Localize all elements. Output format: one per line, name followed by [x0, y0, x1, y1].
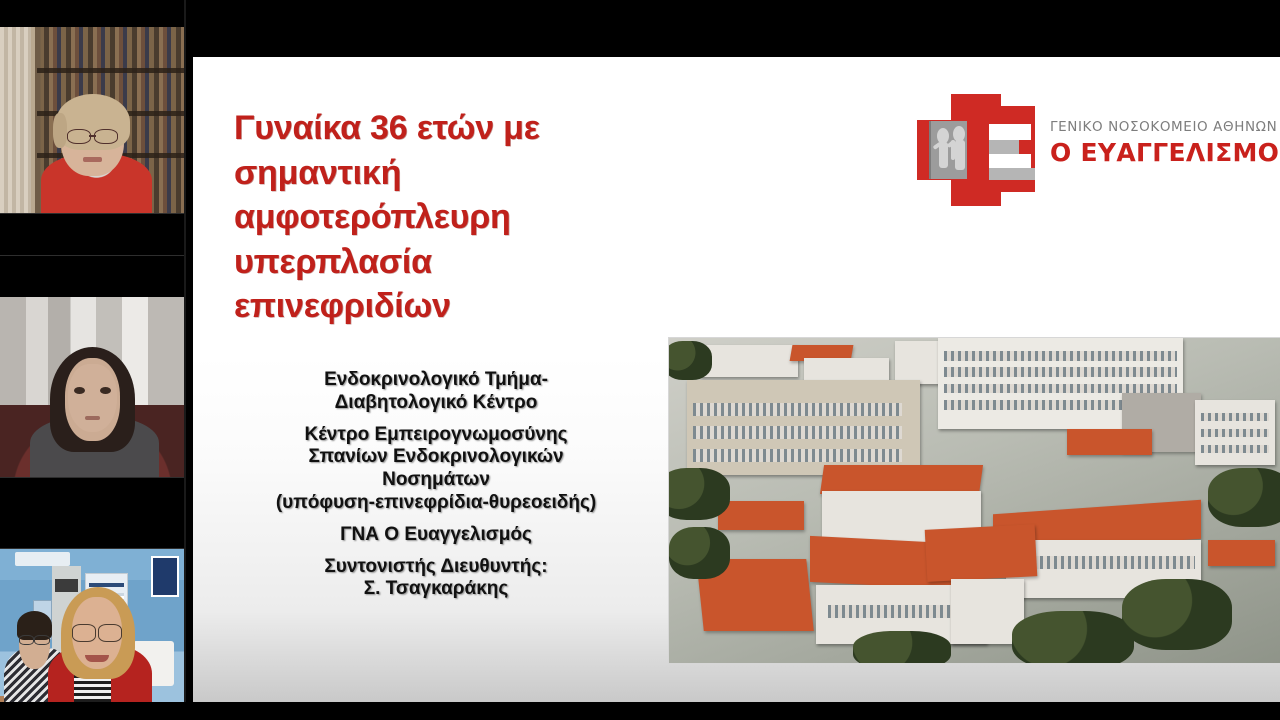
eyeglasses-icon — [72, 624, 122, 639]
building — [895, 341, 944, 383]
roof-red — [718, 501, 804, 530]
roof-red — [1067, 429, 1153, 455]
ceiling-light — [15, 552, 71, 566]
roof-red — [1208, 540, 1275, 566]
slide-subtitle: Ενδοκρινολογικό Τμήμα- Διαβητολογικό Κέν… — [201, 369, 671, 601]
tree-cluster — [669, 527, 730, 579]
tree-cluster — [853, 631, 951, 665]
slide-title-line-2: σημαντική — [234, 151, 664, 196]
window-band — [1201, 445, 1268, 453]
participant-tile-2[interactable] — [0, 297, 185, 477]
slide-title-line-5: επινεφριδίων — [234, 284, 664, 329]
window-band — [693, 403, 901, 416]
window-band — [944, 367, 1177, 377]
subtitle-block-center: Κέντρο Εμπειρογνωμοσύνης Σπανίων Ενδοκρι… — [201, 424, 671, 515]
slide-title: Γυναίκα 36 ετών με σημαντική αμφοτερόπλε… — [234, 106, 664, 329]
tile-divider — [0, 213, 185, 214]
slide-title-line-1: Γυναίκα 36 ετών με — [234, 106, 664, 151]
window-band — [693, 426, 901, 439]
participant-2-video — [0, 297, 185, 477]
column-edge — [184, 0, 186, 720]
subtitle-line-8: Συντονιστής Διευθυντής: — [324, 556, 547, 577]
subtitle-line-7: ΓΝΑ Ο Ευαγγελισμός — [340, 524, 532, 545]
hospital-logo-text: ΓΕΝΙΚΟ ΝΟΣΟΚΟΜΕΙΟ ΑΘΗΝΩΝ Ο ΕΥΑΓΓΕΛΙΣΜΟΣ — [1050, 119, 1280, 167]
presentation-slide[interactable]: Γυναίκα 36 ετών με σημαντική αμφοτερόπλε… — [193, 57, 1280, 702]
participant-2-mouth — [85, 416, 100, 420]
tree-cluster — [1012, 611, 1134, 664]
subtitle-line-5: Νοσημάτων — [382, 469, 490, 490]
participant-video-column — [0, 0, 185, 720]
subtitle-block-director: Συντονιστής Διευθυντής: Σ. Τσαγκαράκης — [201, 556, 671, 602]
subtitle-line-4: Σπανίων Ενδοκρινολογικών — [308, 446, 563, 467]
top-letterbox-band — [0, 0, 1280, 57]
curtain — [0, 27, 31, 213]
hospital-name-line: ΓΕΝΙΚΟ ΝΟΣΟΚΟΜΕΙΟ ΑΘΗΝΩΝ — [1050, 119, 1280, 135]
participant-3-video — [0, 549, 185, 720]
eyeglasses-icon — [19, 635, 50, 644]
hospital-logo: ΓΕΝΙΚΟ ΝΟΣΟΚΟΜΕΙΟ ΑΘΗΝΩΝ Ο ΕΥΑΓΓΕΛΙΣΜΟΣ — [915, 92, 1280, 212]
tree-cluster — [1122, 579, 1232, 651]
window-band — [944, 384, 1177, 394]
slide-title-line-3: αμφοτερόπλευρη — [234, 195, 664, 240]
roof-red — [925, 524, 1038, 582]
subtitle-block-department: Ενδοκρινολογικό Τμήμα- Διαβητολογικό Κέν… — [201, 369, 671, 415]
bottom-letterbox-band — [0, 702, 1280, 720]
hospital-aerial-photo — [668, 337, 1280, 664]
subtitle-line-2: Διαβητολογικό Κέντρο — [335, 392, 538, 413]
tree-cluster — [668, 341, 712, 380]
subtitle-line-1: Ενδοκρινολογικό Τμήμα- — [324, 369, 548, 390]
window-band — [944, 351, 1177, 361]
tile-divider — [0, 477, 185, 478]
hospital-cross-icon — [915, 92, 1037, 208]
window-band — [1201, 429, 1268, 437]
eyeglasses-icon — [67, 129, 119, 142]
participant-3b-mouth — [85, 655, 109, 662]
subtitle-line-3: Κέντρο Εμπειρογνωμοσύνης — [304, 424, 567, 445]
subtitle-line-9: Σ. Τσαγκαράκης — [364, 578, 509, 599]
window-band — [693, 449, 901, 462]
participant-2-face — [68, 364, 116, 432]
subtitle-block-hospital: ΓΝΑ Ο Ευαγγελισμός — [201, 524, 671, 547]
participant-tile-3[interactable] — [0, 549, 185, 720]
slide-title-line-4: υπερπλασία — [234, 240, 664, 285]
roof-red — [820, 465, 983, 494]
window-band — [1012, 556, 1196, 569]
window-band — [1201, 413, 1268, 421]
screen: Γυναίκα 36 ετών με σημαντική αμφοτερόπλε… — [0, 0, 1280, 720]
participant-tile-1[interactable] — [0, 27, 185, 213]
subtitle-line-6: (υπόφυση-επινεφρίδια-θυρεοειδής) — [276, 492, 596, 513]
shelf-line — [37, 68, 185, 73]
tile-divider — [0, 255, 185, 256]
tree-cluster — [1208, 468, 1280, 527]
wall-picture — [151, 556, 179, 598]
participant-1-mouth — [83, 157, 102, 162]
building — [700, 345, 798, 378]
hospital-brand-line: Ο ΕΥΑΓΓΕΛΙΣΜΟΣ — [1050, 138, 1280, 167]
participant-1-video — [0, 27, 185, 213]
tree-cluster — [668, 468, 730, 520]
